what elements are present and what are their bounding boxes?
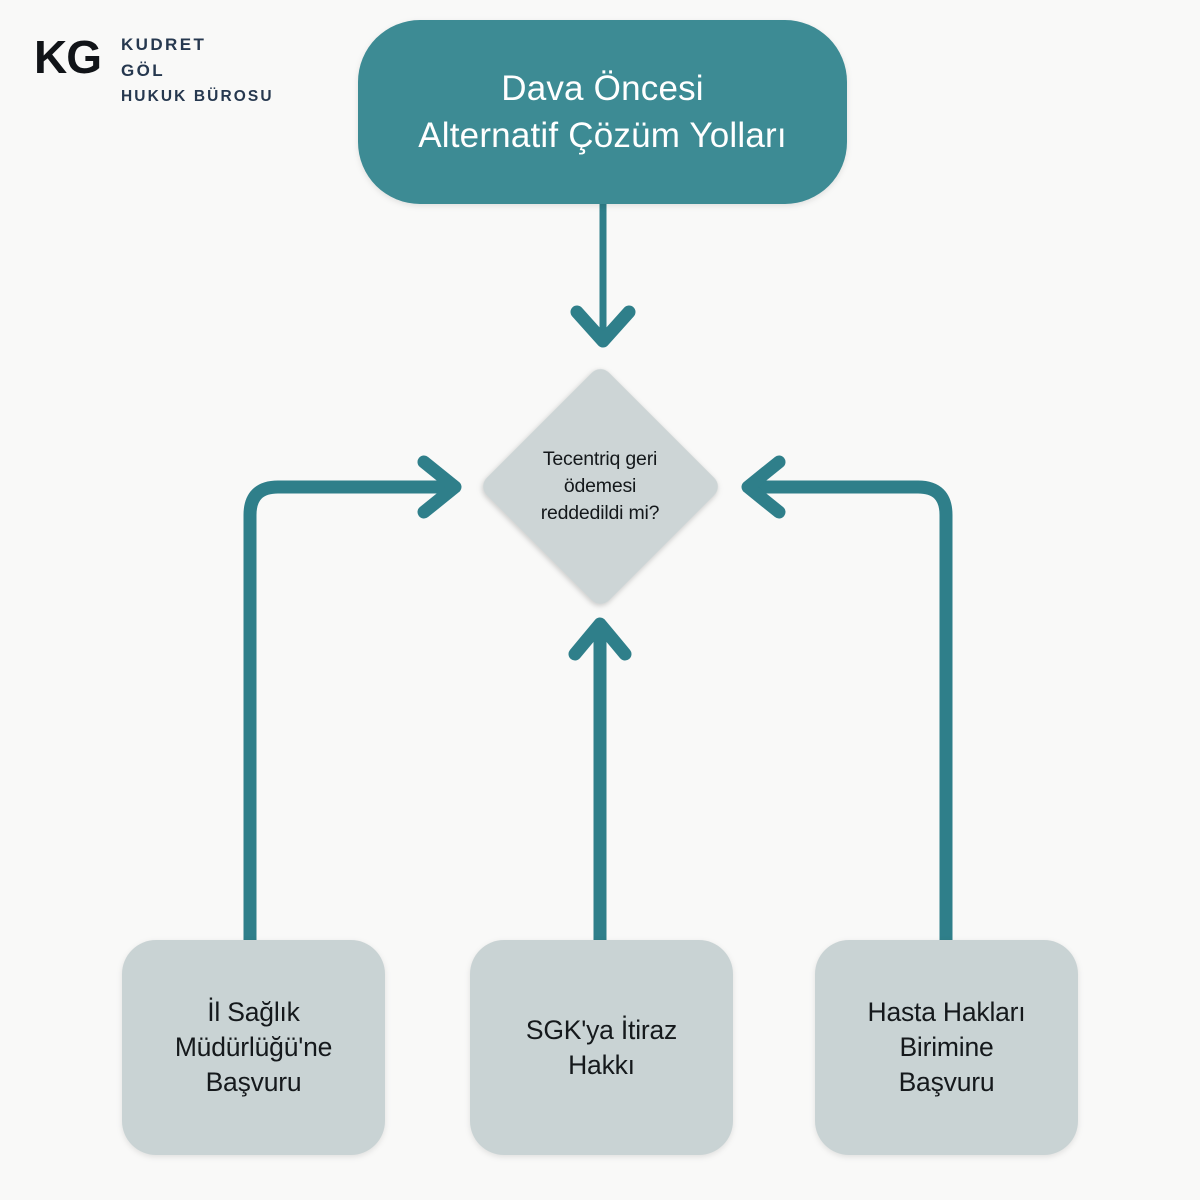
arrowhead-down-icon xyxy=(577,312,629,341)
node-dava-oncesi[interactable]: Dava Öncesi Alternatif Çözüm Yolları xyxy=(358,20,847,204)
brand-monogram: KG xyxy=(34,32,101,80)
connector-title-to-decision xyxy=(577,196,629,341)
brand-wordmark: KUDRET GÖL HUKUK BÜROSU xyxy=(121,32,274,110)
node-il-saglik-mudurlugu[interactable]: İl Sağlık Müdürlüğü'ne Başvuru xyxy=(122,940,385,1155)
node-dava-oncesi-label: Dava Öncesi Alternatif Çözüm Yolları xyxy=(418,65,787,159)
node-il-saglik-mudurlugu-label: İl Sağlık Müdürlüğü'ne Başvuru xyxy=(175,995,332,1100)
node-hasta-haklari[interactable]: Hasta Hakları Birimine Başvuru xyxy=(815,940,1078,1155)
arrowhead-right-icon xyxy=(424,462,455,512)
node-sgk-itiraz-label: SGK'ya İtiraz Hakkı xyxy=(526,1013,677,1083)
arrowhead-up-icon xyxy=(575,624,625,654)
node-tecentriq-decision-label: Tecentriq geri ödemesi reddedildi mi? xyxy=(500,446,700,527)
connector-right-leaf-to-decision xyxy=(748,462,946,950)
brand-logo: KG KUDRET GÖL HUKUK BÜROSU xyxy=(34,32,274,110)
arrowhead-left-icon xyxy=(748,462,779,512)
node-tecentriq-decision[interactable]: Tecentriq geri ödemesi reddedildi mi? xyxy=(478,364,722,608)
node-sgk-itiraz[interactable]: SGK'ya İtiraz Hakkı xyxy=(470,940,733,1155)
connector-middle-leaf-to-decision xyxy=(575,624,625,950)
flowchart-canvas: KG KUDRET GÖL HUKUK BÜROSU Da xyxy=(0,0,1200,1200)
connector-left-leaf-to-decision xyxy=(250,462,455,950)
brand-line-kudret: KUDRET xyxy=(121,32,274,58)
brand-line-gol: GÖL xyxy=(121,58,274,84)
node-hasta-haklari-label: Hasta Hakları Birimine Başvuru xyxy=(868,995,1026,1100)
brand-line-hukuk-burosu: HUKUK BÜROSU xyxy=(121,84,274,110)
